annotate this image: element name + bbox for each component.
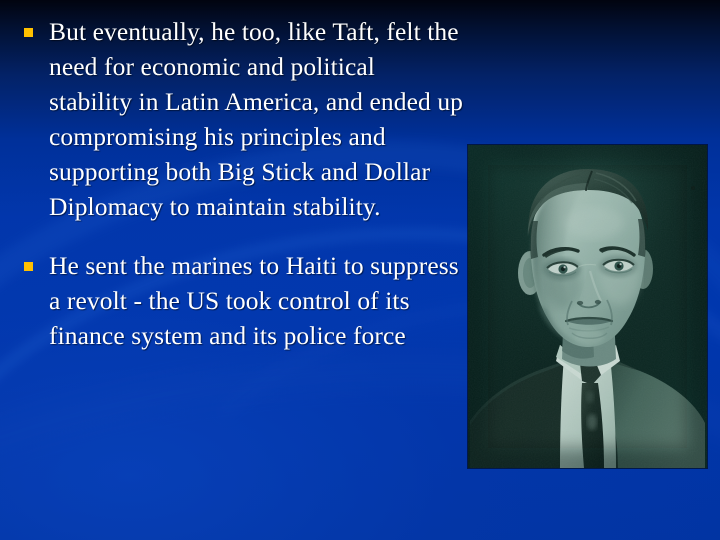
bullet-item-text: He sent the marines to Haiti to suppress…	[49, 248, 464, 353]
bullet-item: But eventually, he too, like Taft, felt …	[24, 14, 464, 224]
presentation-slide: But eventually, he too, like Taft, felt …	[0, 0, 720, 540]
portrait-photograph	[468, 145, 707, 468]
portrait-illustration	[468, 145, 707, 468]
slide-body-text: But eventually, he too, like Taft, felt …	[24, 14, 464, 377]
square-bullet-icon	[24, 28, 33, 37]
bullet-item-text: But eventually, he too, like Taft, felt …	[49, 14, 464, 224]
bullet-item: He sent the marines to Haiti to suppress…	[24, 248, 464, 353]
square-bullet-icon	[24, 262, 33, 271]
